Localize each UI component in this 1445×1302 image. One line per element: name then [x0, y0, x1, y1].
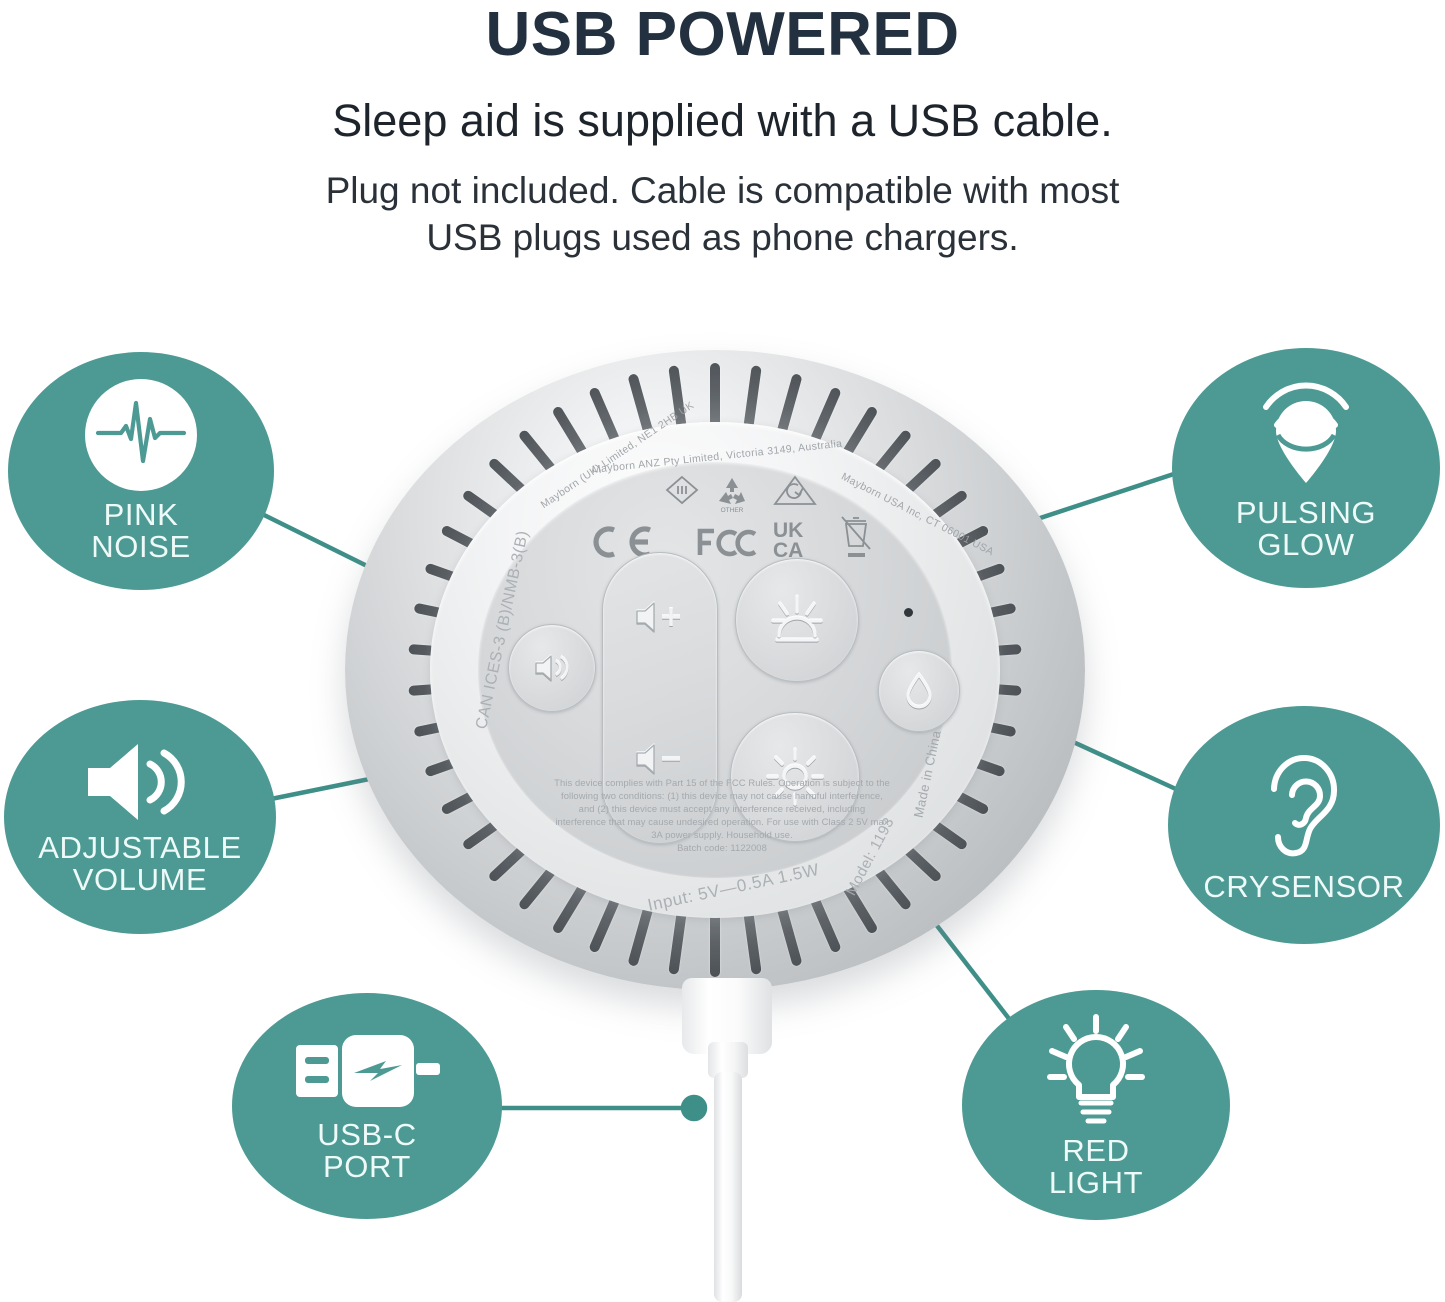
- badge-label-line-1: RED: [1062, 1135, 1129, 1167]
- batch-code: Batch code: 1122008: [552, 842, 892, 855]
- usb-plug-icon: [292, 1029, 442, 1113]
- glow-button[interactable]: [735, 558, 859, 682]
- badge-adjustable-volume[interactable]: ADJUSTABLE VOLUME: [4, 700, 276, 934]
- class-iii-icon: [665, 475, 699, 505]
- sound-button[interactable]: [508, 624, 596, 712]
- page-title: USB POWERED: [0, 4, 1445, 66]
- crysensor-button[interactable]: [878, 650, 960, 732]
- badge-usb-c-port[interactable]: USB-C PORT: [232, 993, 502, 1219]
- fcc-paragraph: This device complies with Part 15 of the…: [552, 777, 892, 842]
- speaker-sound-icon: [532, 651, 572, 685]
- badge-label-line-1: ADJUSTABLE: [38, 832, 242, 864]
- callout-dot-usbc: [683, 1097, 705, 1119]
- badge-crysensor[interactable]: CRYSENSOR: [1168, 706, 1440, 944]
- weee-bin-icon: [836, 515, 876, 561]
- badge-pulsing-glow[interactable]: PULSING GLOW: [1172, 348, 1440, 588]
- badge-pink-noise[interactable]: PINK NOISE: [8, 352, 274, 590]
- compliance-marks: OTHER: [568, 473, 888, 583]
- vent-slot: [668, 910, 687, 975]
- waveform-icon: [95, 395, 187, 474]
- badge-label-line-2: VOLUME: [73, 864, 208, 896]
- speaker-icon: [80, 738, 200, 826]
- recycle-icon: OTHER: [714, 475, 750, 513]
- badge-red-light[interactable]: RED LIGHT: [962, 990, 1230, 1220]
- device-illustration: (function(){ var host = document.current…: [330, 330, 1120, 1030]
- badge-label-line-1: USB-C: [317, 1119, 416, 1151]
- vent-slot: [776, 903, 803, 967]
- description-line-2: USB plugs used as phone chargers.: [0, 215, 1445, 261]
- badge-label-line-2: GLOW: [1257, 529, 1354, 561]
- vent-slot: [710, 363, 720, 427]
- description-line-1: Plug not included. Cable is compatible w…: [0, 168, 1445, 214]
- volume-minus-icon[interactable]: [632, 739, 688, 779]
- header-block: USB POWERED Sleep aid is supplied with a…: [0, 0, 1445, 261]
- badge-label-line-2: PORT: [323, 1151, 411, 1183]
- badge-label-line-1: PULSING: [1236, 497, 1376, 529]
- badge-label-line-2: NOISE: [91, 531, 190, 563]
- vent-slot: [743, 910, 762, 975]
- waveform-icon-circle: [85, 379, 197, 491]
- teardrop-icon: [903, 671, 935, 711]
- usb-cable-cord: [714, 1072, 742, 1302]
- fcc-mark-icon: [696, 525, 758, 559]
- glow-dome-icon: [768, 592, 826, 648]
- pulse-glow-icon: [1244, 375, 1368, 491]
- badge-label-line-1: CRYSENSOR: [1203, 871, 1404, 903]
- description: Plug not included. Cable is compatible w…: [0, 168, 1445, 261]
- recycle-caption: OTHER: [721, 507, 744, 513]
- volume-plus-icon[interactable]: [632, 597, 688, 637]
- rcm-icon: [773, 475, 817, 507]
- fcc-compliance-text: This device complies with Part 15 of the…: [552, 777, 892, 855]
- badge-label-line-2: LIGHT: [1049, 1167, 1143, 1199]
- infographic-canvas: USB POWERED Sleep aid is supplied with a…: [0, 0, 1445, 1288]
- ear-icon: [1254, 747, 1354, 865]
- lightbulb-icon: [1036, 1011, 1156, 1129]
- badge-label-line-1: PINK: [104, 499, 179, 531]
- vent-slot: [743, 365, 762, 430]
- subtitle: Sleep aid is supplied with a USB cable.: [0, 96, 1445, 146]
- ukca-mark-icon: UK CA: [773, 521, 803, 560]
- led-indicator: [904, 608, 913, 617]
- ukca-line-1: UK: [773, 521, 803, 541]
- vent-slot: [710, 913, 720, 977]
